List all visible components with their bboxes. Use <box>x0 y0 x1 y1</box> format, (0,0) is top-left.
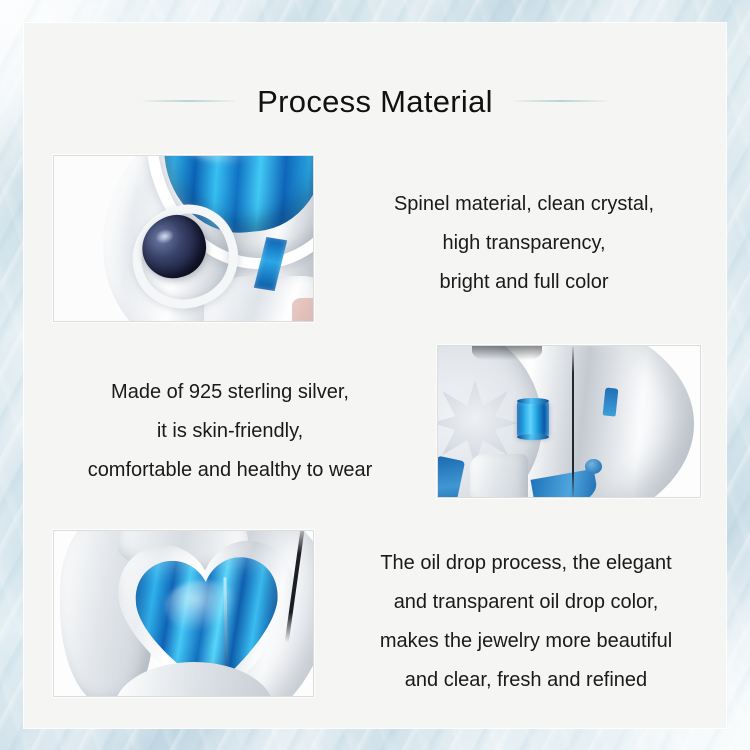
photo2-silver-claw <box>470 454 528 498</box>
text-line: comfortable and healthy to wear <box>40 451 420 490</box>
text-line: makes the jewelry more beautiful <box>332 622 720 661</box>
page-title-row: Process Material <box>24 75 726 127</box>
product-photo-ring-band-side-view <box>437 345 701 498</box>
page-title: Process Material <box>257 86 493 117</box>
photo2-blue-dot <box>585 459 602 474</box>
photo-content-3 <box>54 531 313 696</box>
text-line: The oil drop process, the elegant <box>332 544 720 583</box>
text-line: bright and full color <box>334 263 714 302</box>
photo-content-1 <box>54 156 313 321</box>
text-line: and transparent oil drop color, <box>332 583 720 622</box>
text-line: Made of 925 sterling silver, <box>40 373 420 412</box>
title-rule-left <box>143 100 235 102</box>
photo-content-2 <box>438 346 700 497</box>
photo1-warm-reflection <box>292 298 314 322</box>
photo2-blue-cylinder-gem <box>517 401 549 437</box>
text-line: Spinel material, clean crystal, <box>334 185 714 224</box>
product-photo-ring-closeup-navy-stone <box>53 155 314 322</box>
text-block-oil-drop-process: The oil drop process, the elegant and tr… <box>332 544 720 700</box>
text-block-spinel-material: Spinel material, clean crystal, high tra… <box>334 185 714 302</box>
infographic-canvas: Process Material Spinel material, clean … <box>0 0 750 750</box>
title-rule-right <box>515 100 607 102</box>
text-line: high transparency, <box>334 224 714 263</box>
photo2-dark-edge-line <box>572 346 574 498</box>
text-line: and clear, fresh and refined <box>332 661 720 700</box>
text-block-sterling-silver: Made of 925 sterling silver, it is skin-… <box>40 373 420 490</box>
content-card: Process Material Spinel material, clean … <box>24 23 726 728</box>
text-line: it is skin-friendly, <box>40 412 420 451</box>
product-photo-blue-enamel-heart <box>53 530 314 697</box>
